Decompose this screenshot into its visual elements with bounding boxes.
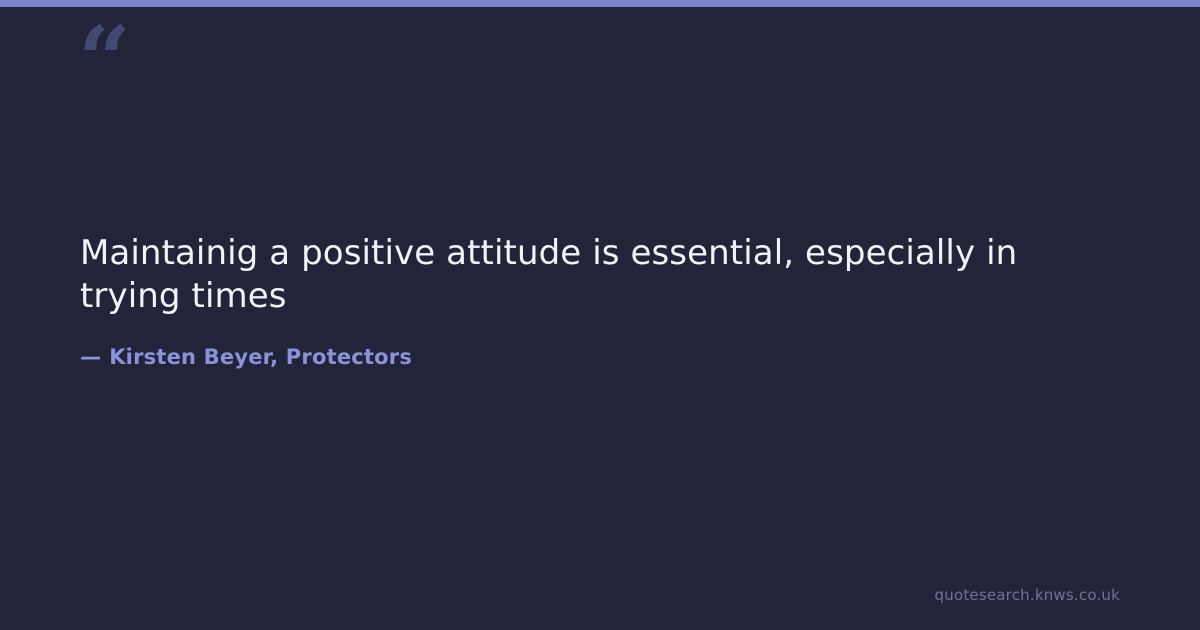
attribution-label: Kirsten Beyer, Protectors — [109, 345, 412, 369]
attribution-dash: — — [80, 345, 101, 369]
quote-card: “ Maintainig a positive attitude is esse… — [0, 0, 1200, 630]
quote-content: Maintainig a positive attitude is essent… — [80, 232, 1110, 369]
open-quote-icon: “ — [78, 14, 129, 106]
site-url-footer: quotesearch.knws.co.uk — [935, 586, 1120, 604]
quote-attribution: —Kirsten Beyer, Protectors — [80, 345, 1110, 369]
quote-text: Maintainig a positive attitude is essent… — [80, 232, 1105, 318]
top-accent-bar — [0, 0, 1200, 7]
